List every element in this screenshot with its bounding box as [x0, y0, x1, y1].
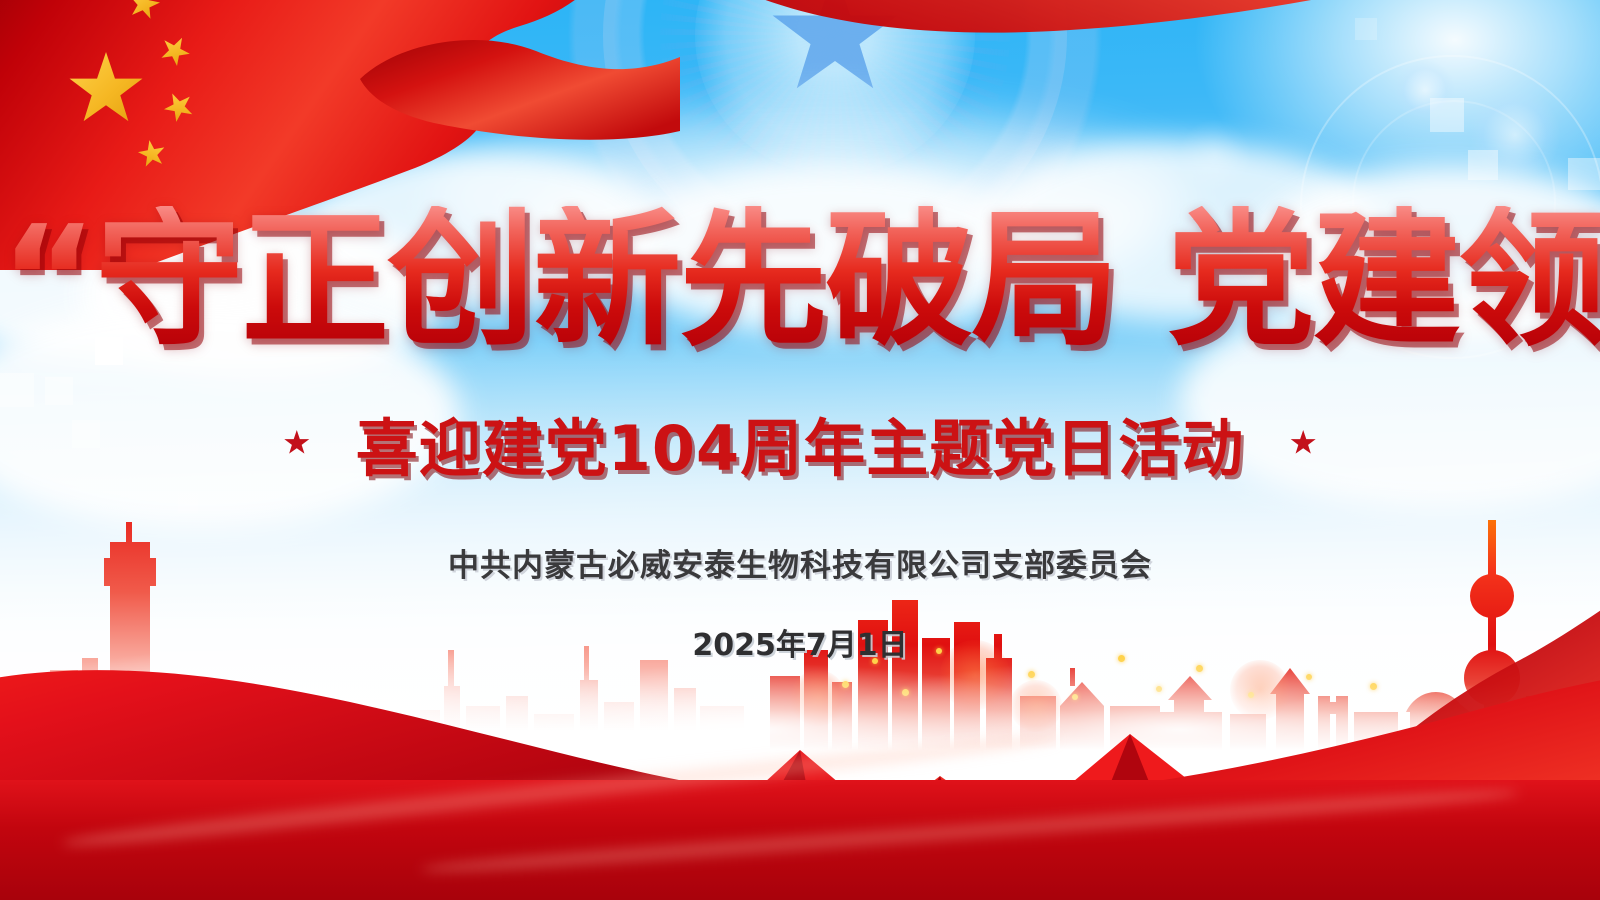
page-title: “守正创新先破局 党建领航向阳生” — [0, 206, 1600, 354]
square-particle — [1568, 158, 1600, 190]
red-star-icon-right — [1290, 430, 1316, 456]
poster-canvas: “守正创新先破局 党建领航向阳生” 喜迎建党104周年主题党日活动 中共内蒙古必… — [0, 0, 1600, 900]
red-star-icon-left — [284, 430, 310, 456]
organization-name: 中共内蒙古必威安泰生物科技有限公司支部委员会 — [0, 540, 1600, 585]
event-date: 2025年7月1日 — [0, 620, 1600, 664]
square-particle — [1355, 18, 1377, 40]
subtitle: 喜迎建党104周年主题党日活动 — [356, 398, 1244, 488]
subtitle-row: 喜迎建党104周年主题党日活动 — [0, 398, 1600, 488]
square-particle — [1468, 150, 1498, 180]
square-particle — [1430, 98, 1464, 132]
